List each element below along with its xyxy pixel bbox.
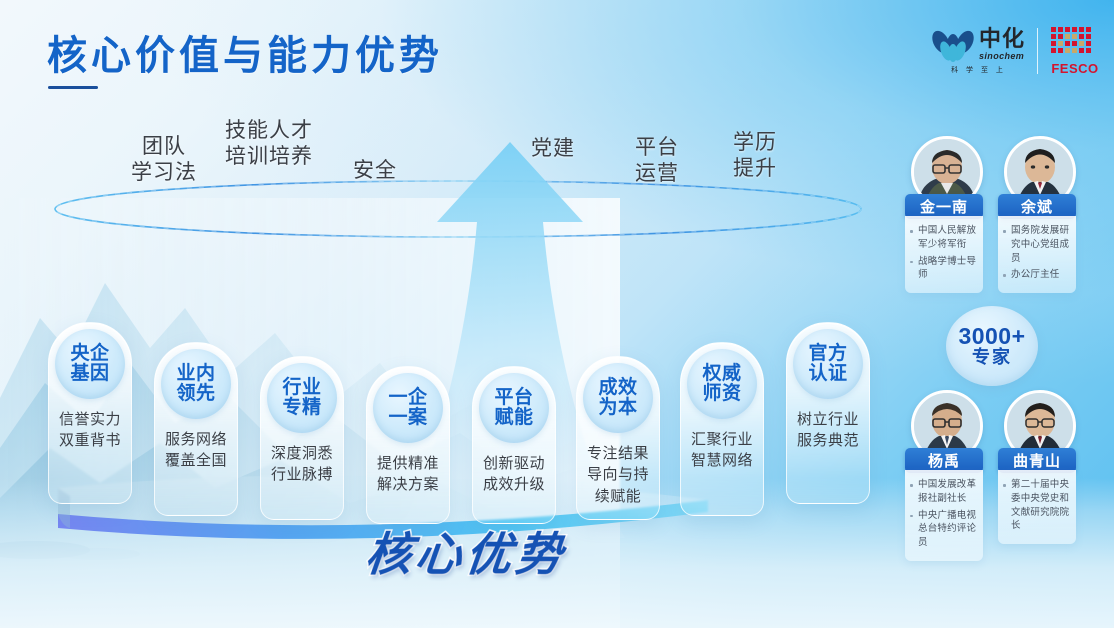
pillar-badge-line-1: 行业	[282, 378, 321, 398]
keyword-line-1: 学历	[718, 130, 792, 156]
fesco-label: FESCO	[1051, 61, 1098, 76]
pillar-card-7[interactable]: 权威 师资 汇聚行业 智慧网络	[680, 342, 764, 516]
pillar-badge-line-1: 一企	[388, 388, 427, 408]
pillar-desc-line-1: 专注结果	[573, 443, 663, 464]
keyword-party-building: 党建	[518, 136, 588, 162]
pillar-badge: 央企 基因	[55, 329, 125, 399]
expert-bio-item: 办公厅主任	[1002, 268, 1072, 282]
expert-bio-item: 中国发展改革报社副社长	[909, 478, 979, 506]
pillar-desc-line-1: 汇聚行业	[677, 429, 767, 450]
pillar-badge-line-2: 专精	[282, 398, 321, 418]
pillar-desc-line-2: 覆盖全国	[151, 450, 241, 471]
pillar-card-6[interactable]: 成效 为本 专注结果 导向与持 续赋能	[576, 356, 660, 520]
sinochem-en-label: sinochem	[979, 51, 1025, 61]
pillar-badge-line-1: 官方	[808, 344, 847, 364]
pillar-description: 创新驱动 成效升级	[469, 453, 559, 496]
pillar-desc-line-1: 提供精准	[363, 453, 453, 474]
pillar-badge-line-2: 领先	[176, 384, 215, 404]
expert-count-badge: 3000+ 专家	[946, 306, 1038, 386]
pillar-badge: 行业 专精	[267, 363, 337, 433]
pillar-card-5[interactable]: 平台 赋能 创新驱动 成效升级	[472, 366, 556, 524]
keyword-line-1: 安全	[340, 158, 410, 184]
expert-bio: 国务院发展研究中心党组成员 办公厅主任	[998, 216, 1076, 293]
pillar-badge-line-2: 基因	[70, 364, 109, 384]
pillar-desc-line-1: 服务网络	[151, 429, 241, 450]
pillar-badge: 一企 一案	[373, 373, 443, 443]
keyword-line-1: 党建	[518, 136, 588, 162]
pillar-description: 专注结果 导向与持 续赋能	[573, 443, 663, 507]
keyword-line-1: 团队	[118, 134, 210, 160]
pillar-badge-line-1: 成效	[598, 378, 637, 398]
pillar-badge: 平台 赋能	[479, 373, 549, 443]
expert-bio: 中国人民解放军少将军衔 战略学博士导师	[905, 216, 983, 293]
pillar-desc-line-2: 解决方案	[363, 474, 453, 495]
pillar-badge: 业内 领先	[161, 349, 231, 419]
pillar-description: 信誉实力 双重背书	[45, 409, 135, 452]
pillar-badge: 成效 为本	[583, 363, 653, 433]
keyword-line-1: 平台	[620, 135, 694, 161]
pillar-card-1[interactable]: 央企 基因 信誉实力 双重背书	[48, 322, 132, 504]
expert-bio-item: 第二十届中央委中央党史和文献研究院院长	[1002, 478, 1072, 533]
pillar-card-2[interactable]: 业内 领先 服务网络 覆盖全国	[154, 342, 238, 516]
pillar-badge-line-1: 平台	[494, 388, 533, 408]
pillar-badge-line-2: 认证	[808, 364, 847, 384]
page-title: 核心价值与能力优势	[47, 23, 443, 81]
keyword-safety: 安全	[340, 158, 410, 184]
brand-logos: 中化 sinochem 科 学 至 上 FESCO	[932, 26, 1100, 76]
pillar-badge-line-1: 权威	[702, 364, 741, 384]
sinochem-cn-label: 中化	[979, 28, 1025, 50]
slide-root: 核心价值与能力优势 中化 sinochem 科 学 至 上	[0, 0, 1114, 628]
pillar-desc-line-2: 服务典范	[783, 430, 873, 451]
pillar-desc-line-1: 创新驱动	[469, 453, 559, 474]
expert-bio-item: 中央广播电视总台特约评论员	[909, 509, 979, 550]
keyword-platform-operation: 平台 运营	[620, 135, 694, 186]
pillar-desc-line-2: 智慧网络	[677, 450, 767, 471]
pillar-badge-line-2: 为本	[598, 398, 637, 418]
expert-bio: 中国发展改革报社副社长 中央广播电视总台特约评论员	[905, 470, 983, 561]
fesco-grid-icon	[1050, 26, 1100, 58]
keyword-education-upgrade: 学历 提升	[718, 130, 792, 181]
pillar-description: 深度洞悉 行业脉搏	[257, 443, 347, 486]
keyword-skill-training: 技能人才 培训培养	[204, 118, 334, 169]
logo-divider	[1037, 28, 1038, 74]
title-underline	[48, 86, 98, 89]
fesco-logo: FESCO	[1050, 26, 1100, 76]
pillar-description: 提供精准 解决方案	[363, 453, 453, 496]
pillar-badge: 权威 师资	[687, 349, 757, 419]
core-advantage-banner: 核心优势	[363, 518, 570, 584]
keyword-line-2: 培训培养	[204, 144, 334, 170]
expert-bio-item: 战略学博士导师	[909, 255, 979, 283]
keyword-line-2: 提升	[718, 156, 792, 182]
pillar-desc-line-2: 双重背书	[45, 430, 135, 451]
pillar-desc-line-1: 信誉实力	[45, 409, 135, 430]
pillar-desc-line-1: 深度洞悉	[257, 443, 347, 464]
keyword-line-2: 学习法	[118, 160, 210, 186]
pillar-badge-line-1: 央企	[70, 344, 109, 364]
pillar-card-4[interactable]: 一企 一案 提供精准 解决方案	[366, 366, 450, 524]
pillar-desc-line-2: 成效升级	[469, 474, 559, 495]
pillar-description: 服务网络 覆盖全国	[151, 429, 241, 472]
pillar-description: 树立行业 服务典范	[783, 409, 873, 452]
pillar-desc-line-3: 续赋能	[573, 486, 663, 507]
sinochem-motto: 科 学 至 上	[951, 65, 1006, 75]
pillar-badge-line-2: 一案	[388, 408, 427, 428]
pillar-desc-line-2: 导向与持	[573, 464, 663, 485]
pillar-badge-line-2: 师资	[702, 384, 741, 404]
sinochem-petal-icon	[932, 28, 974, 62]
keyword-line-2: 运营	[620, 161, 694, 187]
keyword-line-1: 技能人才	[204, 118, 334, 144]
pillar-badge-line-1: 业内	[176, 364, 215, 384]
pillar-badge-line-2: 赋能	[494, 408, 533, 428]
pillar-badge: 官方 认证	[793, 329, 863, 399]
pillar-card-3[interactable]: 行业 专精 深度洞悉 行业脉搏	[260, 356, 344, 520]
expert-bio-item: 中国人民解放军少将军衔	[909, 224, 979, 252]
pillar-desc-line-1: 树立行业	[783, 409, 873, 430]
sinochem-logo: 中化 sinochem 科 学 至 上	[932, 28, 1025, 75]
expert-bio: 第二十届中央委中央党史和文献研究院院长	[998, 470, 1076, 544]
expert-count-label: 专家	[972, 348, 1012, 368]
pillar-description: 汇聚行业 智慧网络	[677, 429, 767, 472]
expert-bio-item: 国务院发展研究中心党组成员	[1002, 224, 1072, 265]
expert-count-number: 3000+	[958, 324, 1025, 348]
pillar-desc-line-2: 行业脉搏	[257, 464, 347, 485]
keyword-team-learning: 团队 学习法	[118, 134, 210, 185]
pillar-card-8[interactable]: 官方 认证 树立行业 服务典范	[786, 322, 870, 504]
